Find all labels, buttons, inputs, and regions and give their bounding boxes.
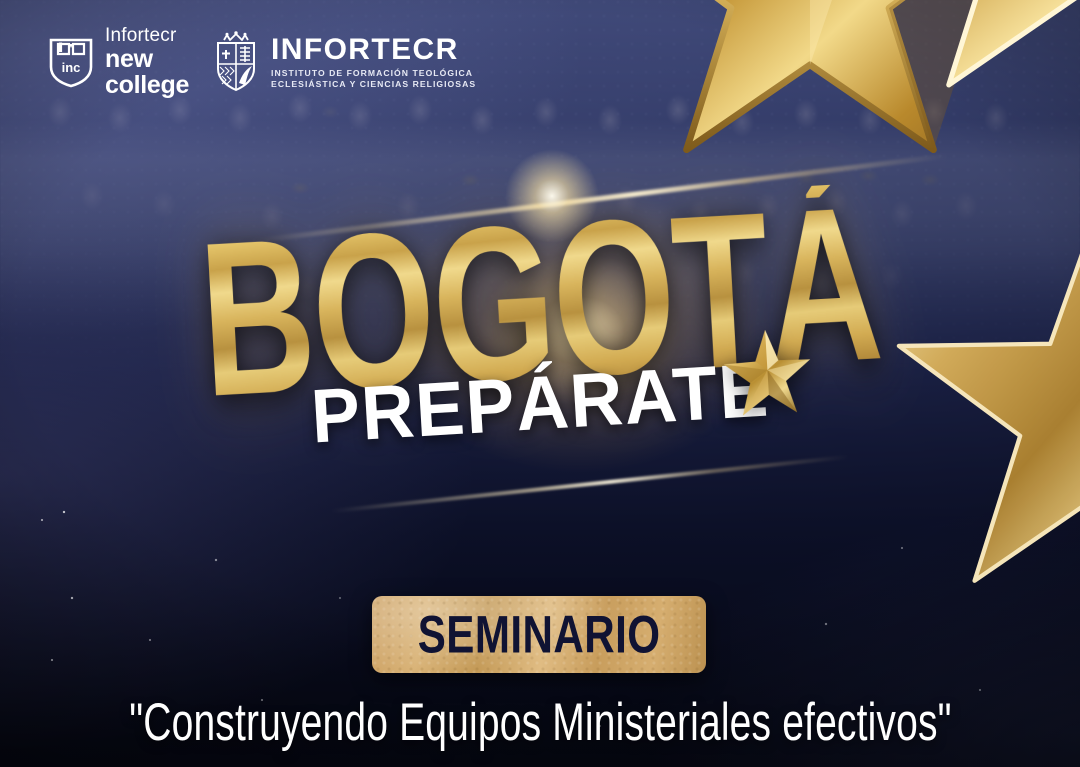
- logo-inc-line2: new: [105, 47, 189, 72]
- logo-infortecr-tagline-1: INSTITUTO DE FORMACIÓN TEOLÓGICA: [271, 69, 476, 78]
- infortecr-crest-icon: [211, 31, 261, 93]
- logo-bar: inc Infortecr new college: [48, 26, 476, 98]
- seminario-badge[interactable]: SEMINARIO: [372, 596, 706, 673]
- svg-text:inc: inc: [62, 60, 81, 75]
- seminar-subtitle: "Construyendo Equipos Ministeriales efec…: [0, 694, 1080, 749]
- logo-infortecr-new-college[interactable]: inc Infortecr new college: [48, 26, 189, 98]
- logo-inc-line3: college: [105, 73, 189, 98]
- seminario-badge-label: SEMINARIO: [418, 604, 661, 664]
- logo-infortecr-tagline-2: ECLESIÁSTICA Y CIENCIAS RELIGIOSAS: [271, 80, 476, 89]
- logo-infortecr-wordmark: INFORTECR: [271, 35, 476, 65]
- hero-title-group: BOGOTÁ PREPÁRATE: [0, 212, 1080, 445]
- gold-3d-star-top-right-icon: [852, 0, 1080, 130]
- logo-inc-line1: Infortecr: [105, 26, 189, 45]
- logo-infortecr[interactable]: INFORTECR INSTITUTO DE FORMACIÓN TEOLÓGI…: [211, 31, 476, 93]
- seminar-subtitle-text: "Construyendo Equipos Ministeriales efec…: [129, 691, 951, 753]
- gold-five-point-star-icon: [719, 324, 817, 425]
- poster-canvas: inc Infortecr new college: [0, 0, 1080, 767]
- inc-shield-graduation-book-icon: inc: [48, 36, 94, 88]
